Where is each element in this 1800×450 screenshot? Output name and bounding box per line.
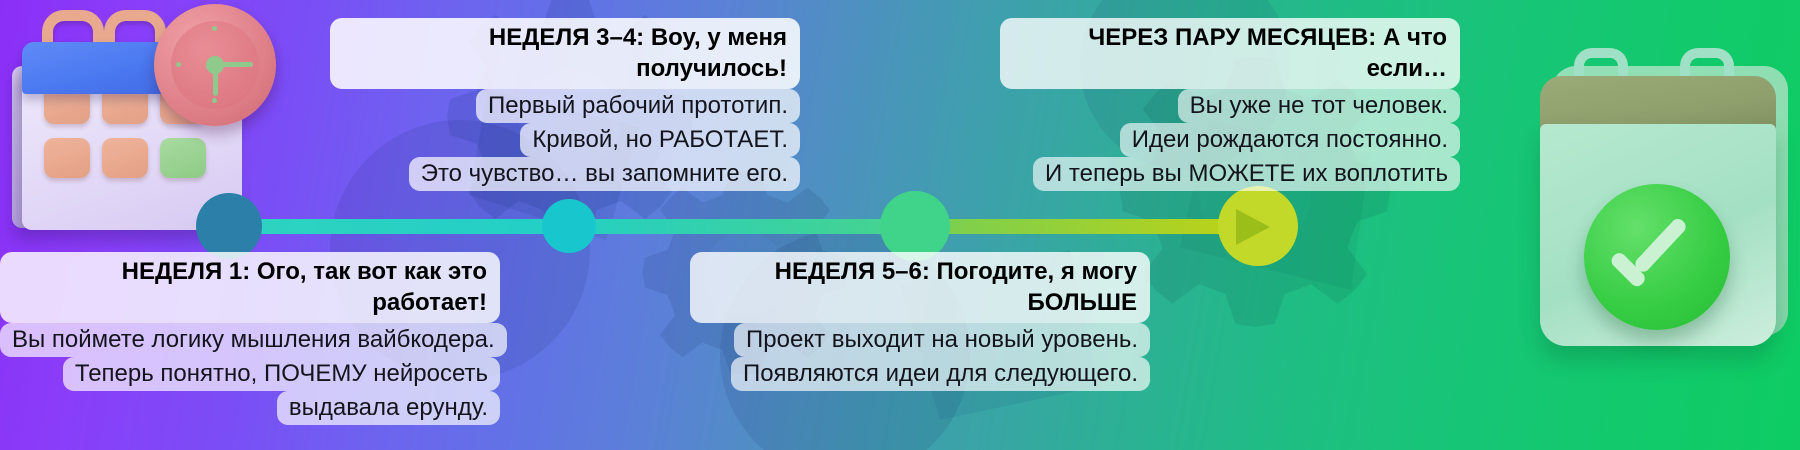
- clock-pip: [212, 26, 217, 31]
- timeline-node-months[interactable]: [1218, 186, 1298, 266]
- calendar-cell: [44, 138, 90, 178]
- callout-line: Это чувство… вы запомните его.: [409, 157, 800, 191]
- checkmark-icon: [1612, 228, 1704, 278]
- callout-line: Проект выходит на новый уровень.: [734, 323, 1150, 357]
- clock-pip: [176, 62, 181, 67]
- callout-heading: НЕДЕЛЯ 3–4: Воу, у меня получилось!: [330, 18, 800, 89]
- callout-line: Первый рабочий прототип.: [476, 89, 800, 123]
- callout-heading: ЧЕРЕЗ ПАРУ МЕСЯЦЕВ: А что если…: [1000, 18, 1460, 89]
- calendar-cell: [102, 138, 148, 178]
- check-circle-icon: [1584, 184, 1730, 330]
- calendar-clock-illustration: [6, 4, 296, 254]
- callout-line: Кривой, но РАБОТАЕТ.: [520, 123, 800, 157]
- clock-icon: [154, 4, 276, 126]
- callout-week-3-4: НЕДЕЛЯ 3–4: Воу, у меня получилось! Перв…: [330, 18, 800, 191]
- callout-line: Появляются идеи для следующего.: [731, 357, 1150, 391]
- calendar-cell-highlight: [160, 138, 206, 178]
- callout-line: Идеи рождаются постоянно.: [1120, 123, 1460, 157]
- clock-pip: [212, 98, 217, 103]
- timeline-node-week-3-4[interactable]: [542, 199, 596, 253]
- callout-heading: НЕДЕЛЯ 1: Ого, так вот как это работает!: [0, 252, 500, 323]
- callout-line: Теперь понятно, ПОЧЕМУ нейросеть: [63, 357, 500, 391]
- callout-line: Вы уже не тот человек.: [1178, 89, 1460, 123]
- timeline-arrow-head: [1236, 209, 1270, 245]
- callout-line: Вы поймете логику мышления вайбкодера.: [0, 323, 507, 357]
- callout-heading: НЕДЕЛЯ 5–6: Погодите, я могу БОЛЬШЕ: [690, 252, 1150, 323]
- timeline-segment-2: [548, 219, 892, 234]
- clock-hub: [206, 56, 224, 74]
- callout-week-5-6: НЕДЕЛЯ 5–6: Погодите, я могу БОЛЬШЕ Прое…: [690, 252, 1150, 391]
- callout-line: И теперь вы МОЖЕТЕ их воплотить: [1033, 157, 1460, 191]
- timeline-node-week-5-6[interactable]: [880, 191, 950, 261]
- callout-months: ЧЕРЕЗ ПАРУ МЕСЯЦЕВ: А что если… Вы уже н…: [1000, 18, 1460, 191]
- callout-line: выдавала ерунду.: [277, 391, 500, 425]
- infographic-canvas: НЕДЕЛЯ 3–4: Воу, у меня получилось! Перв…: [0, 0, 1800, 450]
- timeline-segment-3: [886, 219, 1230, 234]
- calendar-check-illustration: [1494, 58, 1794, 448]
- callout-week-1: НЕДЕЛЯ 1: Ого, так вот как это работает!…: [0, 252, 500, 425]
